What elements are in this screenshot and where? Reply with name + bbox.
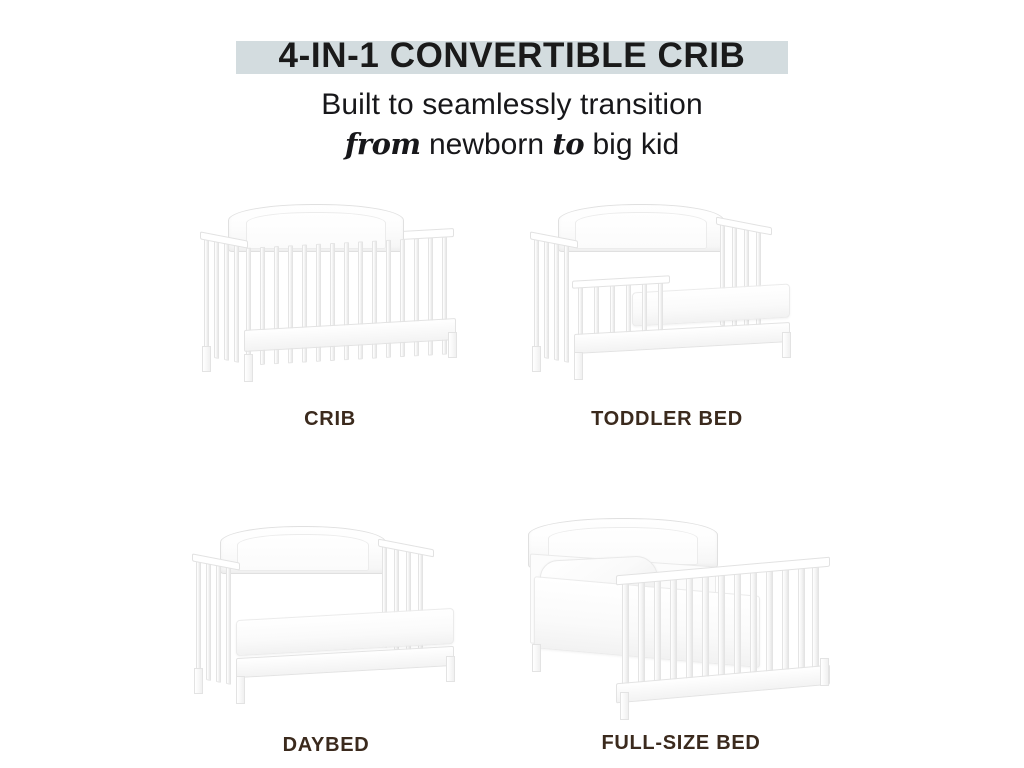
product-grid: CRIB [0,196,1024,736]
fullsize-leg-front-left [620,692,629,720]
subtitle-line-1: Built to seamlessly transition [0,87,1024,123]
fullsize-leg-back-left [532,644,541,672]
subtitle-word-from: from [345,127,421,161]
page-title: 4-IN-1 CONVERTIBLE CRIB [0,30,1024,82]
crib-leg-front-right [448,332,457,358]
daybed-leg-front-right [446,656,455,682]
toddler-headboard [558,204,724,252]
daybed-illustration [176,518,476,698]
toddler-headboard-panel [575,212,706,249]
daybed-left-panel [194,558,238,687]
title-text: 4-IN-1 CONVERTIBLE CRIB [0,30,1024,82]
crib-leg-front-left [244,354,253,382]
toddler-leg-back-left [532,346,541,372]
product-row-top: CRIB [0,196,1024,466]
subtitle-line-2: from newborn to big kid [0,125,1024,164]
crib-leg-back-left [202,346,211,372]
full-size-bed-illustration [506,510,856,710]
toddler-guard-rail-slats [574,279,668,336]
toddler-left-panel [532,236,576,365]
subtitle-word-bigkid: big kid [592,128,679,161]
header: 4-IN-1 CONVERTIBLE CRIB Built to seamles… [0,0,1024,164]
subtitle-word-newborn: newborn [429,128,544,161]
daybed-headboard-panel [237,534,368,571]
crib-illustration [180,196,480,376]
subtitle-word-to: to [552,127,584,161]
fullsize-leg-front-right [820,658,829,686]
product-row-bottom: DAYBED [0,466,1024,736]
daybed-headboard [220,526,386,574]
daybed-leg-back-left [194,668,203,694]
toddler-leg-front-left [574,352,583,380]
product-label-full-size-bed: FULL-SIZE BED [506,732,856,755]
infographic-page: 4-IN-1 CONVERTIBLE CRIB Built to seamles… [0,0,1024,768]
daybed-leg-front-left [236,676,245,704]
product-label-daybed: DAYBED [176,734,476,757]
toddler-leg-front-right [782,332,791,358]
crib-left-panel [202,236,246,365]
product-label-crib: CRIB [180,408,480,431]
product-label-toddler-bed: TODDLER BED [512,408,822,431]
toddler-bed-illustration [512,196,822,376]
